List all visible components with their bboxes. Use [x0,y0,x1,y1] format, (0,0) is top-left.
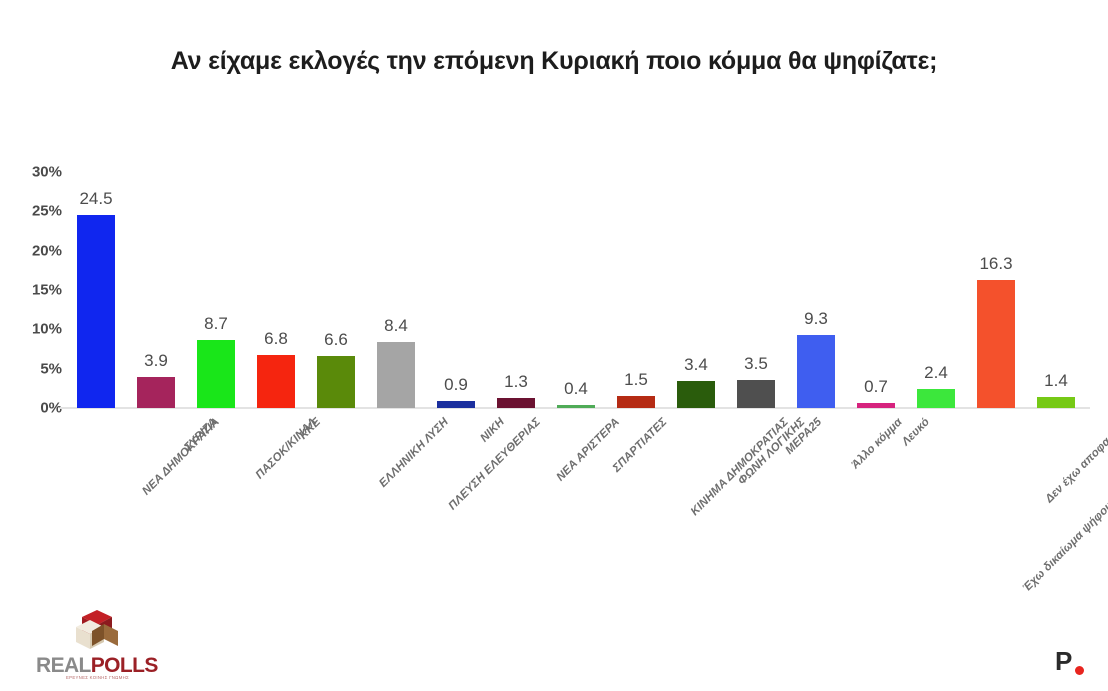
bar-group: 16.3 [977,172,1015,408]
realpolls-tagline: ΕΡΕΥΝΕΣ ΚΟΙΝΗΣ ΓΝΩΜΗΣ [66,675,129,680]
bar-group: 0.7 [857,172,895,408]
realpolls-word-polls: POLLS [91,654,158,677]
bar[interactable] [437,401,475,408]
bar[interactable] [977,280,1015,408]
x-axis-tick: Έχω δικαίωμα ψήφου αλλά δεν θα ψηφίσω [1020,416,1108,595]
y-axis-tick: 30% [6,164,62,181]
bar-group: 0.4 [557,172,595,408]
bar[interactable] [617,396,655,408]
y-axis-tick: 20% [6,242,62,259]
x-axis-tick: ΚΚΕ [297,416,323,442]
bar[interactable] [77,215,115,408]
y-axis-tick: 10% [6,321,62,338]
bar-group: 0.9 [437,172,475,408]
bar[interactable] [797,335,835,408]
bar-group: 2.4 [917,172,955,408]
x-axis-tick: ΝΕΑ ΑΡΙΣΤΕΡΑ [554,416,622,484]
bar[interactable] [557,405,595,408]
bar-group: 8.4 [377,172,415,408]
bar-value-label: 6.6 [324,330,348,350]
bar-value-label: 3.9 [144,351,168,371]
realpolls-word-real: REAL [36,654,91,677]
bar-group: 1.3 [497,172,535,408]
bar-value-label: 1.4 [1044,371,1068,391]
bar[interactable] [857,403,895,409]
corner-logo-dot-icon [1075,666,1084,675]
x-axis-tick: Λευκό [900,416,932,448]
y-axis-tick: 5% [6,360,62,377]
x-axis-tick: ΝΙΚΗ [478,416,507,445]
bar-value-label: 2.4 [924,363,948,383]
realpolls-logo: REALPOLLS ΕΡΕΥΝΕΣ ΚΟΙΝΗΣ ΓΝΩΜΗΣ [36,610,156,684]
x-axis-tick: ΚΙΝΗΜΑ ΔΗΜΟΚΡΑΤΙΑΣ [689,416,791,518]
bar[interactable] [737,380,775,408]
plot-area: 24.53.98.76.86.68.40.91.30.41.53.43.59.3… [66,172,1086,408]
bar[interactable] [677,381,715,408]
bar-value-label: 6.8 [264,329,288,349]
bar-value-label: 3.4 [684,355,708,375]
bar-value-label: 8.7 [204,314,228,334]
y-axis: 0%5%10%15%20%25%30% [0,172,62,408]
bar-value-label: 0.7 [864,377,888,397]
y-axis-tick: 15% [6,282,62,299]
bar[interactable] [377,342,415,408]
bar-value-label: 3.5 [744,354,768,374]
bar[interactable] [317,356,355,408]
bar-group: 8.7 [197,172,235,408]
bar-value-label: 1.3 [504,372,528,392]
bar-value-label: 16.3 [979,254,1012,274]
bar-group: 1.4 [1037,172,1075,408]
bar[interactable] [1037,397,1075,408]
chart-title: Αν είχαμε εκλογές την επόμενη Κυριακή πο… [0,47,1108,76]
y-axis-tick: 25% [6,203,62,220]
bar-group: 3.5 [737,172,775,408]
bar-group: 1.5 [617,172,655,408]
bar[interactable] [497,398,535,408]
bar-value-label: 0.4 [564,379,588,399]
x-axis-tick: ΣΥΡΙΖΑ [182,416,220,454]
x-axis-tick: Δεν έχω αποφασίσει [1043,416,1108,505]
bar-group: 24.5 [77,172,115,408]
bar-group: 6.6 [317,172,355,408]
corner-logo: P [1055,648,1072,674]
bar[interactable] [257,355,295,408]
x-axis: ΝΕΑ ΔΗΜΟΚΡΑΤΙΑΣΥΡΙΖΑΠΑΣΟΚ/ΚΙΝΑΛΚΚΕΕΛΛΗΝΙ… [66,412,1086,682]
bar-group: 3.9 [137,172,175,408]
y-axis-tick: 0% [6,400,62,417]
bar-value-label: 1.5 [624,370,648,390]
x-axis-tick: Άλλο κόμμα [849,416,904,471]
bar[interactable] [917,389,955,408]
x-axis-tick: ΕΛΛΗΝΙΚΗ ΛΥΣΗ [377,416,451,490]
bar-value-label: 9.3 [804,309,828,329]
bar-group: 9.3 [797,172,835,408]
bar[interactable] [197,340,235,408]
bar-value-label: 8.4 [384,316,408,336]
bar-value-label: 24.5 [79,189,112,209]
cube-icon [74,610,120,650]
bar-group: 6.8 [257,172,295,408]
bar-group: 3.4 [677,172,715,408]
bar[interactable] [137,377,175,408]
bar-value-label: 0.9 [444,375,468,395]
